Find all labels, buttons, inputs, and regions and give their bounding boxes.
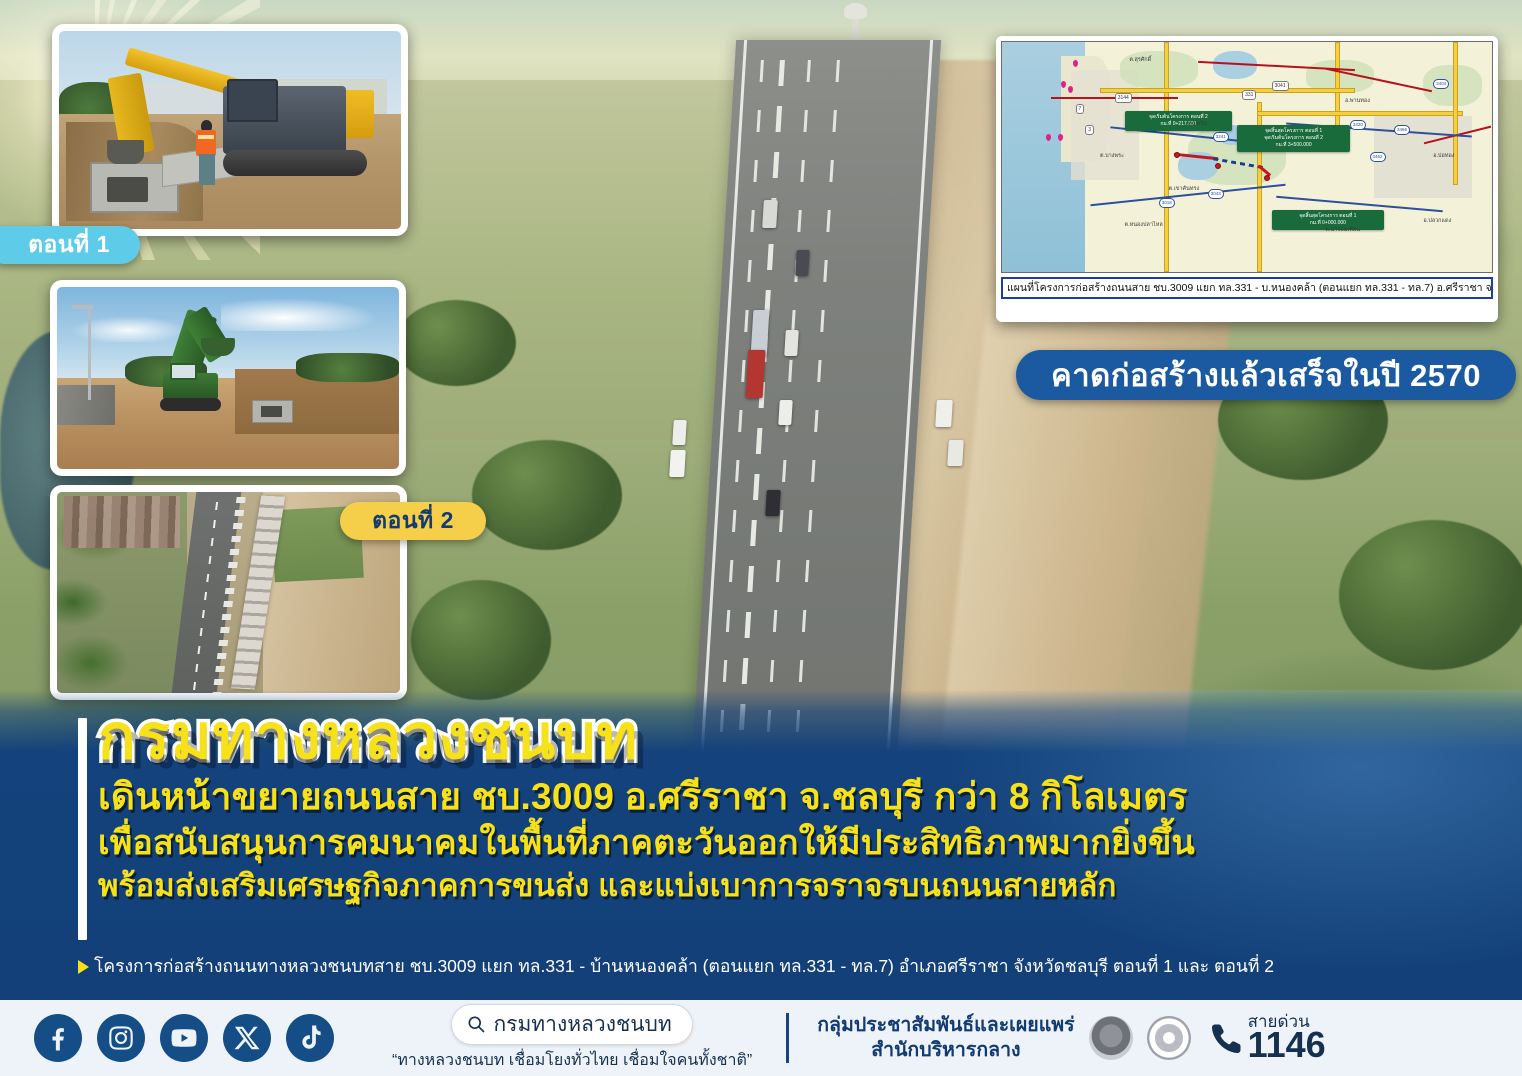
map-caption: แผนที่โครงการก่อสร้างถนนสาย ชบ.3009 แยก … xyxy=(1001,277,1493,299)
tree-clump xyxy=(1339,520,1522,670)
search-pill[interactable]: กรมทางหลวงชนบท xyxy=(451,1004,692,1045)
map-highway xyxy=(1257,111,1463,116)
vehicle xyxy=(795,250,810,276)
map-route-shield: 3466 xyxy=(1394,125,1410,135)
search-icon xyxy=(466,1014,486,1034)
map-canvas: จุดเริ่มต้นโครงการ ตอนที่ 2 กม.ที่ 0+217… xyxy=(1001,41,1493,273)
triangle-bullet-icon xyxy=(78,960,89,974)
map-route-shield: 3043 xyxy=(1208,189,1224,199)
vehicle xyxy=(669,450,686,477)
social-links xyxy=(34,1014,334,1062)
photo1-worker-legs xyxy=(199,154,215,186)
headline-line-3: พร้อมส่งเสริมเศรษฐกิจภาคการขนส่ง และแบ่ง… xyxy=(98,866,1498,906)
photo2-trees xyxy=(296,353,399,382)
map-callout-start-section2: จุดเริ่มต้นโครงการ ตอนที่ 2 กม.ที่ 0+217… xyxy=(1125,111,1233,131)
headline-text-block: กรมทางหลวงชนบท เดินหน้าขยายถนนสาย ชบ.300… xyxy=(98,706,1498,906)
tree-clump xyxy=(396,300,516,386)
map-route-shield: 3041 xyxy=(1272,81,1289,91)
map-route-shield: 7 xyxy=(1076,104,1085,114)
photo2-cloud xyxy=(221,298,378,331)
tree-clump xyxy=(411,580,551,700)
map-place-label: ต.สุรศักดิ์ xyxy=(1129,56,1151,64)
map-project-node xyxy=(1174,152,1180,158)
map-project-node xyxy=(1215,163,1221,169)
map-route-shield: 3420 xyxy=(1350,120,1366,130)
photo2-existing-road xyxy=(57,385,115,425)
map-place-label: ต.บางพระ xyxy=(1100,152,1124,160)
vehicle xyxy=(746,350,766,398)
photo2-excavator-cab xyxy=(170,363,197,379)
search-and-tagline: กรมทางหลวงชนบท “ทางหลวงชนบท เชื่อมโยงทั่… xyxy=(392,1004,752,1073)
org-line-2: สำนักบริหารกลาง xyxy=(817,1038,1074,1063)
map-route-shield: 3018 xyxy=(1159,198,1175,208)
org-line-1: กลุ่มประชาสัมพันธ์และเผยแพร่ xyxy=(817,1013,1074,1038)
footer-divider xyxy=(786,1013,789,1063)
hotline-number: 1146 xyxy=(1248,1027,1326,1063)
badge-section-1: ตอนที่ 1 xyxy=(0,226,140,264)
map-route-shield: 3 xyxy=(1085,125,1094,135)
vehicle xyxy=(672,420,687,445)
hotline-text: สายด่วน 1146 xyxy=(1248,1013,1326,1063)
map-highway xyxy=(1453,42,1458,185)
tiktok-icon[interactable] xyxy=(286,1014,334,1062)
tree-clump xyxy=(472,440,622,550)
photo3-houses xyxy=(64,496,181,548)
map-place-label: ต.บ่อวิน xyxy=(1188,120,1207,128)
map-route-shield: 3144 xyxy=(1115,93,1132,103)
map-callout-line1: จุดเริ่มต้นโครงการ ตอนที่ 2 xyxy=(1149,114,1208,120)
map-route-shield: 3404 xyxy=(1433,79,1449,89)
map-callout-line3: กม.ที่ 3+500.000 xyxy=(1275,142,1311,148)
photo2-box-culvert xyxy=(252,400,293,424)
map-place-label: ต.เขาคันทรง xyxy=(1169,185,1200,193)
map-pin xyxy=(1061,81,1066,88)
hotline-block: สายด่วน 1146 xyxy=(1209,1013,1326,1063)
headline-line-1: เดินหน้าขยายถนนสาย ชบ.3009 อ.ศรีราชา จ.ช… xyxy=(98,773,1498,821)
map-callout-line2: กม.ที่ 0+000.000 xyxy=(1310,220,1346,226)
photo2-excavator-track xyxy=(160,398,222,411)
badge-section-2: ตอนที่ 2 xyxy=(340,502,486,540)
vehicle xyxy=(785,330,800,356)
photo2-street-light xyxy=(88,305,91,400)
photo1-excavator-cab xyxy=(227,79,278,123)
map-callout-line2: จุดเริ่มต้นโครงการ ตอนที่ 2 xyxy=(1264,135,1323,141)
headline-line-2: เพื่อสนับสนุนการคมนาคมในพื้นที่ภาคตะวันอ… xyxy=(98,821,1498,865)
photo1-excavator-bucket xyxy=(107,140,145,164)
map-route-shield: 331 xyxy=(1242,90,1256,100)
map-place-label: อ.พานทอง xyxy=(1345,97,1370,105)
project-map-inset: จุดเริ่มต้นโครงการ ตอนที่ 2 กม.ที่ 0+217… xyxy=(996,36,1498,322)
badge-completion-year: คาดก่อสร้างแล้วเสร็จในปี 2570 xyxy=(1016,350,1516,400)
map-route-shield: 3241 xyxy=(1213,132,1229,142)
tagline: “ทางหลวงชนบท เชื่อมโยงทั่วไทย เชื่อมใจคน… xyxy=(392,1048,752,1073)
map-place-label: อ.บ่อทอง xyxy=(1433,152,1454,160)
map-callout-mid: จุดสิ้นสุดโครงการ ตอนที่ 1 จุดเริ่มต้นโค… xyxy=(1237,125,1350,152)
headline-accent-bar xyxy=(78,718,87,940)
vehicle xyxy=(935,400,953,427)
map-highway xyxy=(1164,42,1169,272)
photo1-worker-safety-vest xyxy=(196,130,217,156)
department-seal-icon xyxy=(1147,1016,1191,1060)
search-text: กรมทางหลวงชนบท xyxy=(493,1008,671,1041)
photo-card-green-excavator xyxy=(50,280,406,476)
map-callout-line1: จุดสิ้นสุดโครงการ ตอนที่ 1 xyxy=(1265,128,1322,134)
infographic-poster: ตอนที่ 1 ตอนที่ 2 คาดก่อสร้างแล้วเสร็จใน… xyxy=(0,0,1522,1076)
vehicle xyxy=(778,400,793,425)
youtube-icon[interactable] xyxy=(160,1014,208,1062)
facebook-icon[interactable] xyxy=(34,1014,82,1062)
vehicle xyxy=(762,200,778,228)
x-twitter-icon[interactable] xyxy=(223,1014,271,1062)
instagram-icon[interactable] xyxy=(97,1014,145,1062)
map-route-shield: 3462 xyxy=(1370,152,1386,162)
photo2-excavator-bucket xyxy=(201,338,235,356)
page-title: กรมทางหลวงชนบท xyxy=(98,706,1498,769)
garuda-emblem-icon xyxy=(1089,1016,1133,1060)
vehicle xyxy=(765,490,781,516)
map-callout-line1: จุดสิ้นสุดโครงการ ตอนที่ 1 xyxy=(1299,213,1356,219)
phone-icon xyxy=(1209,1020,1245,1056)
map-place-label: ต.หนองปลาไหล xyxy=(1125,221,1163,229)
photo-card-excavator-culvert xyxy=(52,24,408,236)
map-highway xyxy=(1100,88,1355,93)
project-subtitle-text: โครงการก่อสร้างถนนทางหลวงชนบทสาย ชบ.3009… xyxy=(94,956,1274,976)
vehicle xyxy=(947,440,964,466)
department-unit: กลุ่มประชาสัมพันธ์และเผยแพร่ สำนักบริหาร… xyxy=(817,1013,1074,1063)
footer-bar: กรมทางหลวงชนบท “ทางหลวงชนบท เชื่อมโยงทั่… xyxy=(0,1000,1522,1076)
map-place-label: อ.ปลวกแดง xyxy=(1423,217,1451,225)
map-place-label: ต.นาจอมเทียน xyxy=(1325,226,1360,234)
project-subtitle-bullet: โครงการก่อสร้างถนนทางหลวงชนบทสาย ชบ.3009… xyxy=(78,955,1498,977)
photo1-excavator-track xyxy=(223,150,367,176)
